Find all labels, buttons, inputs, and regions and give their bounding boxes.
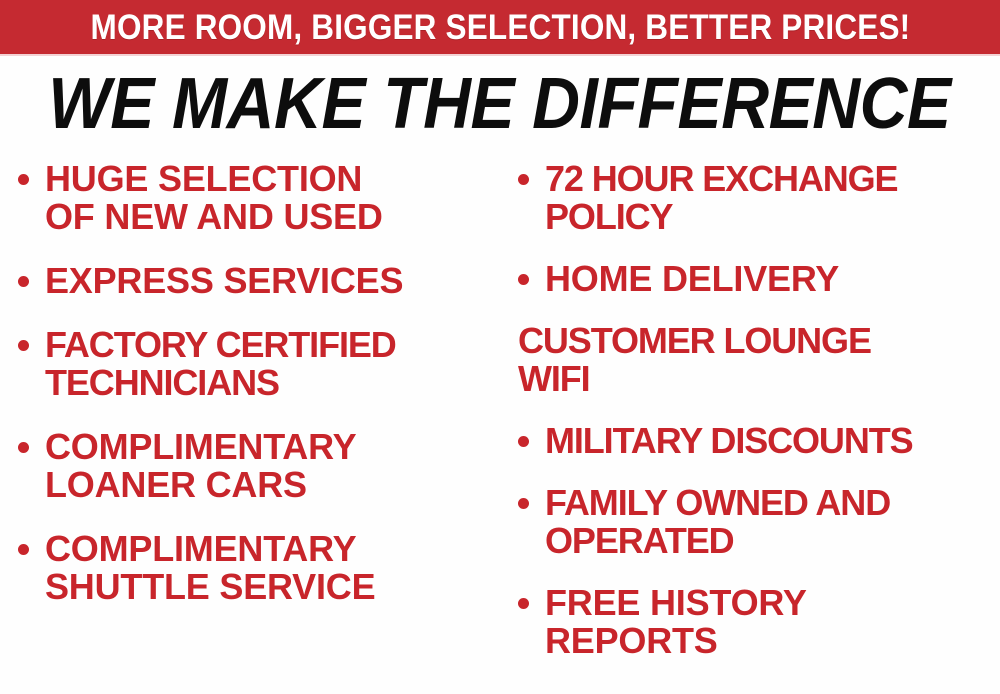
list-item-label: COMPLIMENTARY LOANER CARS — [45, 428, 500, 504]
list-item: COMPLIMENTARY LOANER CARS — [18, 428, 500, 504]
bullet-dot-icon — [518, 174, 529, 185]
list-item-label: HOME DELIVERY — [545, 260, 1000, 298]
list-item-label: HUGE SELECTION OF NEW AND USED — [45, 160, 500, 236]
bullet-dot-icon — [518, 436, 529, 447]
bullet-dot-icon — [18, 340, 29, 351]
list-item-label: CUSTOMER LOUNGE WIFI — [518, 322, 1000, 398]
list-item: HUGE SELECTION OF NEW AND USED — [18, 160, 500, 236]
list-item: COMPLIMENTARY SHUTTLE SERVICE — [18, 530, 500, 606]
list-item-label: FAMILY OWNED AND OPERATED — [545, 484, 1000, 560]
benefits-column-right: 72 HOUR EXCHANGE POLICY HOME DELIVERY CU… — [518, 160, 1000, 684]
list-item: 72 HOUR EXCHANGE POLICY — [518, 160, 1000, 236]
list-item: FAMILY OWNED AND OPERATED — [518, 484, 1000, 560]
top-banner: MORE ROOM, BIGGER SELECTION, BETTER PRIC… — [0, 0, 1000, 56]
benefits-column-left: HUGE SELECTION OF NEW AND USED EXPRESS S… — [18, 160, 500, 632]
list-item-label: EXPRESS SERVICES — [45, 262, 500, 300]
page-title: WE MAKE THE DIFFERENCE — [49, 68, 952, 140]
bullet-dot-icon — [18, 174, 29, 185]
list-item-label: 72 HOUR EXCHANGE POLICY — [545, 160, 1000, 236]
benefits-columns: HUGE SELECTION OF NEW AND USED EXPRESS S… — [0, 160, 1000, 694]
bullet-dot-icon — [18, 544, 29, 555]
list-item: MILITARY DISCOUNTS — [518, 422, 1000, 460]
list-item-label: MILITARY DISCOUNTS — [545, 422, 1000, 460]
bullet-dot-icon — [18, 276, 29, 287]
bullet-dot-icon — [518, 598, 529, 609]
promo-poster: MORE ROOM, BIGGER SELECTION, BETTER PRIC… — [0, 0, 1000, 694]
list-item-label: FREE HISTORY REPORTS — [545, 584, 1000, 660]
list-item: CUSTOMER LOUNGE WIFI — [518, 322, 1000, 398]
list-item: HOME DELIVERY — [518, 260, 1000, 298]
headline-container: WE MAKE THE DIFFERENCE — [0, 62, 1000, 146]
list-item: EXPRESS SERVICES — [18, 262, 500, 300]
bullet-dot-icon — [518, 498, 529, 509]
list-item-label: FACTORY CERTIFIED TECHNICIANS — [45, 326, 500, 402]
banner-headline-text: MORE ROOM, BIGGER SELECTION, BETTER PRIC… — [90, 10, 910, 45]
bullet-dot-icon — [18, 442, 29, 453]
list-item: FACTORY CERTIFIED TECHNICIANS — [18, 326, 500, 402]
bullet-dot-icon — [518, 274, 529, 285]
list-item-label: COMPLIMENTARY SHUTTLE SERVICE — [45, 530, 500, 606]
list-item: FREE HISTORY REPORTS — [518, 584, 1000, 660]
